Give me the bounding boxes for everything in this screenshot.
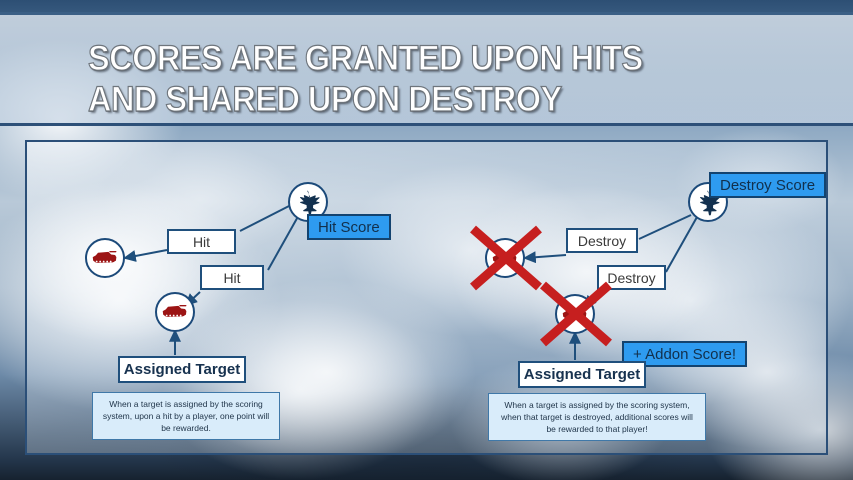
right-caption-text: When a target is assigned by the scoring… <box>501 400 693 434</box>
right-destroy-score-badge[interactable]: Destroy Score <box>709 172 826 198</box>
right-destroy-label-2: Destroy <box>597 265 666 290</box>
left-hit-label-2-text: Hit <box>223 270 240 286</box>
left-assigned-target-node[interactable] <box>155 292 195 332</box>
tank-icon <box>91 248 119 268</box>
right-destroy-label-1-text: Destroy <box>578 233 626 249</box>
left-hit-label-1-text: Hit <box>193 234 210 250</box>
left-caption: When a target is assigned by the scoring… <box>92 392 280 440</box>
left-upper-target-node[interactable] <box>85 238 125 278</box>
left-assigned-target-label: Assigned Target <box>118 356 246 383</box>
tank-icon <box>561 304 589 324</box>
addon-score-label: + Addon Score! <box>633 346 736 363</box>
left-hit-label-1: Hit <box>167 229 236 254</box>
right-assigned-target-label: Assigned Target <box>518 361 646 388</box>
right-destroy-label-1: Destroy <box>566 228 638 253</box>
right-destroy-label-2-text: Destroy <box>607 270 655 286</box>
slide-root: SCORES ARE GRANTED UPON HITS AND SHARED … <box>0 0 853 480</box>
right-caption: When a target is assigned by the scoring… <box>488 393 706 441</box>
tank-icon <box>161 302 189 322</box>
left-hit-score-label: Hit Score <box>318 219 380 236</box>
right-destroy-score-label: Destroy Score <box>720 177 815 194</box>
left-hit-score-badge[interactable]: Hit Score <box>307 214 391 240</box>
right-assigned-target-text: Assigned Target <box>524 366 640 383</box>
left-hit-label-2: Hit <box>200 265 264 290</box>
right-assigned-target-node[interactable] <box>555 294 595 334</box>
page-title: SCORES ARE GRANTED UPON HITS AND SHARED … <box>88 39 758 120</box>
tank-icon <box>491 248 519 268</box>
left-caption-text: When a target is assigned by the scoring… <box>103 399 269 433</box>
right-upper-target-node[interactable] <box>485 238 525 278</box>
fighter-jet-icon <box>294 188 322 216</box>
left-assigned-target-text: Assigned Target <box>124 361 240 378</box>
title-banner: SCORES ARE GRANTED UPON HITS AND SHARED … <box>0 12 853 126</box>
